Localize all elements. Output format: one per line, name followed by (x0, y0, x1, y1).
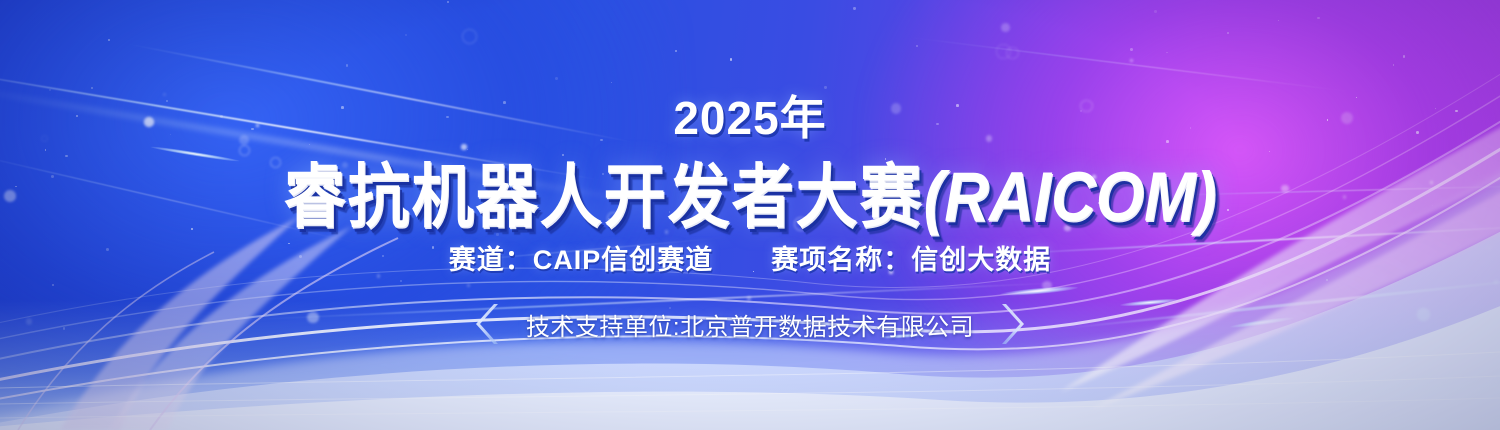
year-label: 2025年 (0, 82, 1500, 148)
support-text: 技术支持单位:北京普开数据技术有限公司 (526, 307, 974, 342)
subtitle-line: 赛道：CAIP信创赛道赛项名称：信创大数据 (0, 238, 1500, 277)
event-label: 赛项名称： (771, 245, 911, 275)
main-title-cjk: 睿抗机器人开发者大赛 (284, 159, 924, 236)
main-title: 睿抗机器人开发者大赛(RAICOM) (0, 140, 1500, 241)
track-label: 赛道： (449, 245, 533, 275)
chevron-right-icon (996, 302, 1026, 346)
track-value: CAIP信创赛道 (533, 245, 714, 275)
event-value: 信创大数据 (911, 245, 1051, 275)
support-bar: 技术支持单位:北京普开数据技术有限公司 (0, 302, 1500, 346)
banner-content: 2025年 睿抗机器人开发者大赛(RAICOM) 赛道：CAIP信创赛道赛项名称… (0, 0, 1500, 430)
main-title-latin: (RAICOM) (924, 159, 1217, 236)
competition-banner: 2025年 睿抗机器人开发者大赛(RAICOM) 赛道：CAIP信创赛道赛项名称… (0, 0, 1500, 430)
chevron-left-icon (474, 302, 504, 346)
